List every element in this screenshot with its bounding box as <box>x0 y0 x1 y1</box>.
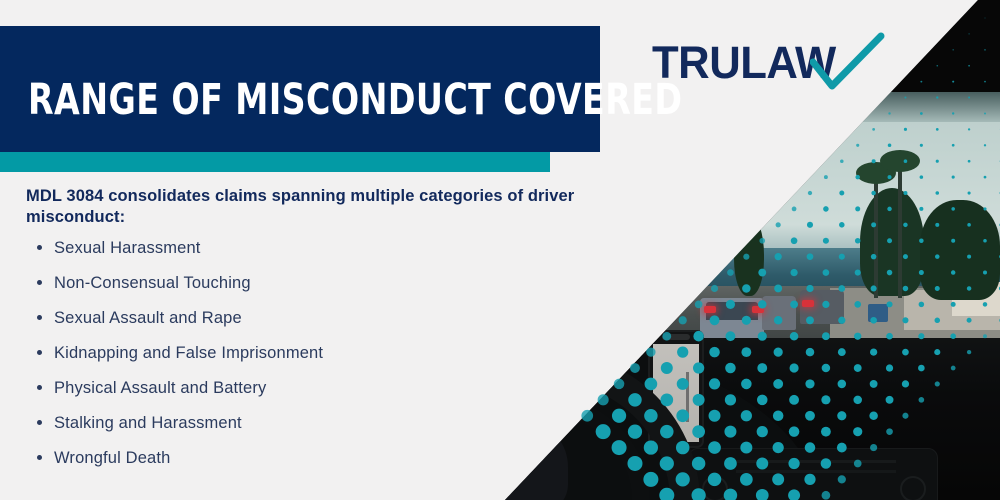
palm-tree <box>898 160 902 298</box>
bullet-icon <box>37 315 42 320</box>
car-ahead <box>800 290 844 324</box>
bullet-icon <box>37 280 42 285</box>
trulaw-logo[interactable]: TRULAW <box>652 36 872 94</box>
list-item-label: Non-Consensual Touching <box>54 274 251 292</box>
bullet-icon <box>37 245 42 250</box>
tail-light <box>802 300 814 307</box>
navigation-route-line <box>686 372 689 422</box>
intro-paragraph: MDL 3084 consolidates claims spanning mu… <box>26 186 622 228</box>
logo-wordmark: TRULAW <box>652 38 836 88</box>
infographic-canvas: RANGE OF MISCONDUCT COVERED TRULAW MDL 3… <box>0 0 1000 500</box>
misconduct-list: Sexual HarassmentNon-Consensual Touching… <box>26 236 586 481</box>
page-title: RANGE OF MISCONDUCT COVERED <box>28 78 510 122</box>
car-ahead <box>762 296 796 330</box>
control-knob <box>702 476 728 500</box>
trash-bin <box>868 304 888 322</box>
list-item-label: Sexual Harassment <box>54 239 201 257</box>
bullet-icon <box>37 385 42 390</box>
list-item: Wrongful Death <box>26 446 586 481</box>
palm-tree <box>874 172 878 298</box>
control-knob <box>900 476 926 500</box>
tail-light <box>752 306 764 313</box>
phone-speaker <box>662 334 690 340</box>
dashboard-vent <box>736 460 896 463</box>
list-item: Sexual Harassment <box>26 236 586 271</box>
tree <box>860 188 924 296</box>
dashboard-vent <box>736 470 896 473</box>
list-item-label: Physical Assault and Battery <box>54 379 266 397</box>
list-item: Physical Assault and Battery <box>26 376 586 411</box>
list-item: Non-Consensual Touching <box>26 271 586 306</box>
title-banner: RANGE OF MISCONDUCT COVERED <box>0 26 600 152</box>
bullet-icon <box>37 455 42 460</box>
list-item-label: Kidnapping and False Imprisonment <box>54 344 323 362</box>
list-item-label: Sexual Assault and Rape <box>54 309 242 327</box>
accent-bar <box>0 152 550 172</box>
antenna-line <box>740 130 751 250</box>
mirror-stem <box>640 128 652 164</box>
palm-fronds <box>880 150 920 172</box>
bullet-icon <box>37 420 42 425</box>
list-item-label: Wrongful Death <box>54 449 170 467</box>
list-item-label: Stalking and Harassment <box>54 414 242 432</box>
checkmark-icon <box>810 32 886 94</box>
tree <box>920 200 1000 300</box>
tree <box>734 214 764 296</box>
list-item: Sexual Assault and Rape <box>26 306 586 341</box>
list-item: Kidnapping and False Imprisonment <box>26 341 586 376</box>
tail-light <box>704 306 716 313</box>
bullet-icon <box>37 350 42 355</box>
list-item: Stalking and Harassment <box>26 411 586 446</box>
